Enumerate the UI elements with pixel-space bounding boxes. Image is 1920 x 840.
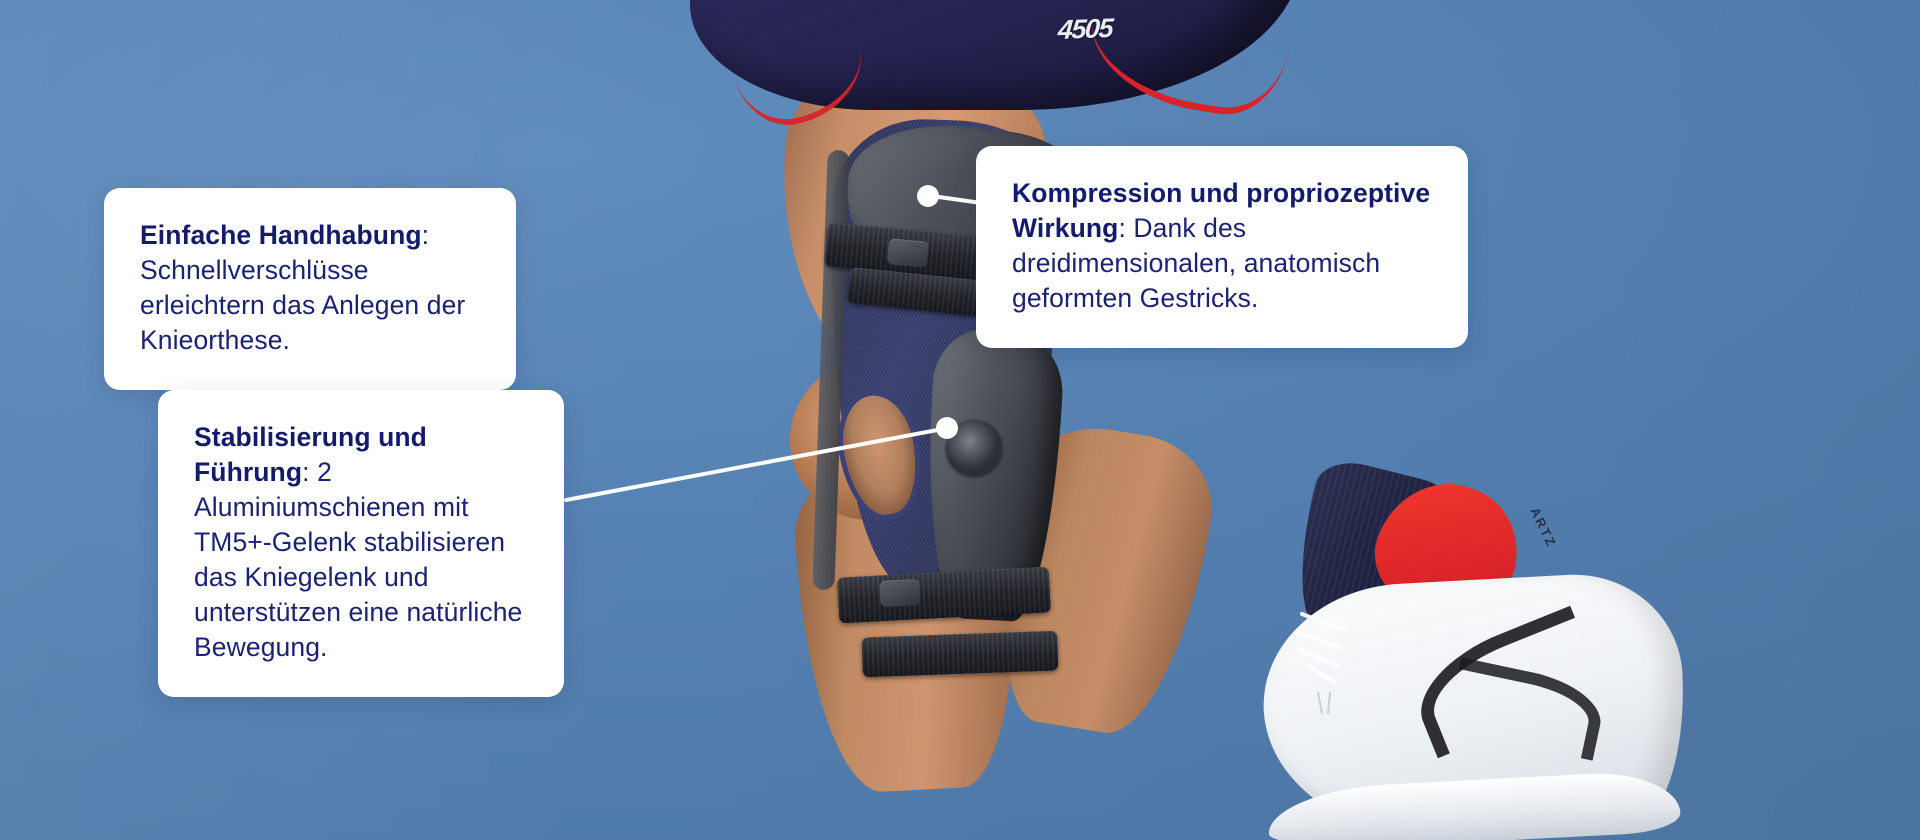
shoe-brand-text: ARTZ xyxy=(1527,505,1559,550)
callout-text: Stabilisierung und Führung: 2 Aluminiums… xyxy=(194,420,530,665)
callout-body: Schnellverschlüsse erleichtern das Anleg… xyxy=(140,255,465,355)
shoe-laces xyxy=(1288,596,1408,716)
callout-separator: : xyxy=(302,457,309,487)
callout-body: 2 Aluminiumschienen mit TM5+-Gelenk stab… xyxy=(194,457,522,662)
callout-separator: : xyxy=(1118,213,1125,243)
velcro-strap-lower-2 xyxy=(861,631,1058,678)
callout-separator: : xyxy=(422,220,429,250)
strap-buckle-lower xyxy=(879,579,920,607)
shorts-logo: 4505 xyxy=(1057,13,1113,46)
callout-heading: Einfache Handhabung xyxy=(140,220,422,250)
callout-card-stabilisierung: Stabilisierung und Führung: 2 Aluminiums… xyxy=(158,390,564,697)
strap-buckle-upper xyxy=(887,238,929,267)
infographic-stage: 4505 ARTZ xyxy=(0,0,1920,840)
callout-heading: Stabilisierung und Führung xyxy=(194,422,427,487)
callout-text: Einfache Handhabung: Schnellverschlüsse … xyxy=(140,218,482,358)
leader-dot-kompression xyxy=(917,185,939,207)
callout-text: Kompression und propriozeptive Wirkung: … xyxy=(1012,176,1434,316)
leader-dot-stabilisierung xyxy=(936,417,958,439)
callout-card-kompression: Kompression und propriozeptive Wirkung: … xyxy=(976,146,1468,348)
callout-card-einfache-handhabung: Einfache Handhabung: Schnellverschlüsse … xyxy=(104,188,516,390)
